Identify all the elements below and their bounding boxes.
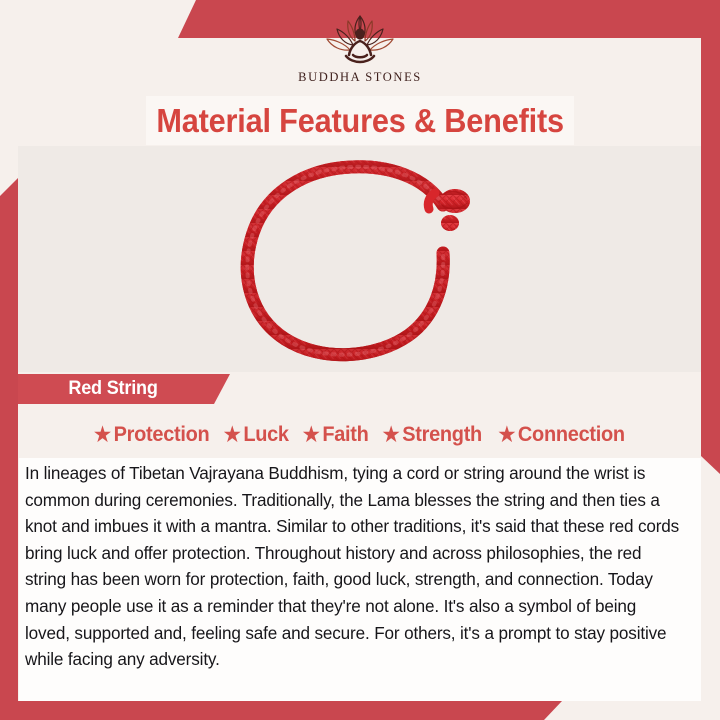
red-string-bracelet-image — [229, 153, 491, 365]
lotus-meditation-icon — [318, 12, 402, 68]
star-icon: ★ — [224, 425, 241, 445]
benefit-label: Strength — [402, 423, 482, 447]
star-icon: ★ — [383, 425, 400, 445]
benefits-list: ★ Protection ★ Luck ★ Faith ★ Strength ★… — [18, 418, 701, 452]
star-icon: ★ — [94, 425, 111, 445]
benefit-item-connection: ★ Connection — [498, 423, 624, 447]
description-panel: In lineages of Tibetan Vajrayana Buddhis… — [19, 458, 701, 701]
infographic-page: BUDDHA STONES Material Features & Benefi… — [0, 0, 720, 720]
brand-name: BUDDHA STONES — [298, 70, 422, 85]
benefit-label: Luck — [244, 423, 289, 447]
frame-bar-bottom — [0, 701, 562, 720]
frame-bar-left — [0, 178, 18, 720]
benefit-item-luck: ★ Luck — [224, 423, 289, 447]
benefit-item-strength: ★ Strength — [383, 423, 482, 447]
page-title: Material Features & Benefits — [146, 96, 574, 145]
page-title-text: Material Features & Benefits — [156, 102, 564, 140]
benefit-label: Protection — [114, 423, 210, 447]
benefit-label: Faith — [322, 423, 368, 447]
product-image-band — [18, 146, 701, 372]
benefit-item-faith: ★ Faith — [303, 423, 369, 447]
description-text: In lineages of Tibetan Vajrayana Buddhis… — [25, 460, 683, 673]
star-icon: ★ — [303, 425, 320, 445]
brand-logo: BUDDHA STONES — [0, 12, 720, 85]
benefit-item-protection: ★ Protection — [94, 423, 209, 447]
benefit-label: Connection — [518, 423, 625, 447]
ribbon-label-text: Red String — [68, 378, 157, 400]
page-header: BUDDHA STONES Material Features & Benefi… — [0, 0, 720, 146]
star-icon: ★ — [498, 425, 515, 445]
product-ribbon-label: Red String — [18, 374, 230, 404]
